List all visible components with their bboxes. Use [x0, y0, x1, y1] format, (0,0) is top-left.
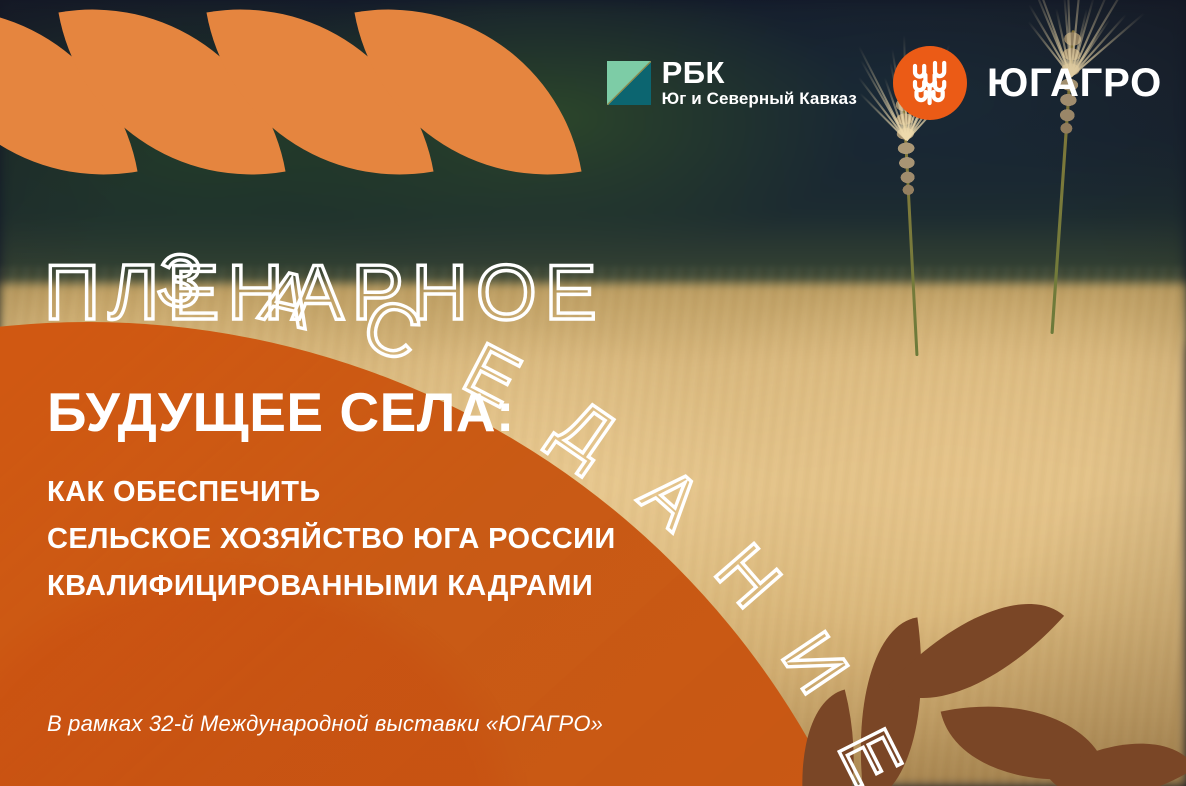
subtitle-line-2: СЕЛЬСКОЕ ХОЗЯЙСТВО ЮГА РОССИИ: [47, 516, 616, 563]
orange-petal-shapes: [0, 0, 566, 122]
page-title: БУДУЩЕЕ СЕЛА:: [47, 384, 515, 441]
logo-row: РБК Юг и Северный Кавказ: [607, 46, 1162, 120]
wheat-ear-icon: [893, 46, 967, 120]
yugagro-brand-name: ЮГАГРО: [987, 63, 1162, 103]
rbc-brand-name: РБК: [662, 57, 857, 89]
rbc-logo[interactable]: РБК Юг и Северный Кавказ: [607, 57, 857, 108]
rbc-diagonal-square-icon: [607, 61, 651, 105]
subtitle-line-1: КАК ОБЕСПЕЧИТЬ: [47, 469, 616, 516]
brown-leaf-shapes: [826, 556, 1186, 786]
brown-leaf-1: [840, 617, 942, 786]
rbc-region-name: Юг и Северный Кавказ: [662, 90, 857, 109]
yugagro-logo[interactable]: ЮГАГРО: [893, 46, 1162, 120]
subtitle-line-3: КВАЛИФИЦИРОВАННЫМИ КАДРАМИ: [47, 563, 616, 610]
rbc-logo-text: РБК Юг и Северный Кавказ: [662, 57, 857, 108]
event-footnote: В рамках 32-й Международной выставки «ЮГ…: [47, 711, 603, 737]
promo-banner: ПЛЕНАРНОЕ ЗАСЕДАНИЕ БУДУЩЕЕ СЕЛА: КАК ОБ…: [0, 0, 1186, 786]
plenary-outline-word: ПЛЕНАРНОЕ: [44, 253, 605, 331]
subtitle-block: КАК ОБЕСПЕЧИТЬ СЕЛЬСКОЕ ХОЗЯЙСТВО ЮГА РО…: [47, 469, 616, 610]
